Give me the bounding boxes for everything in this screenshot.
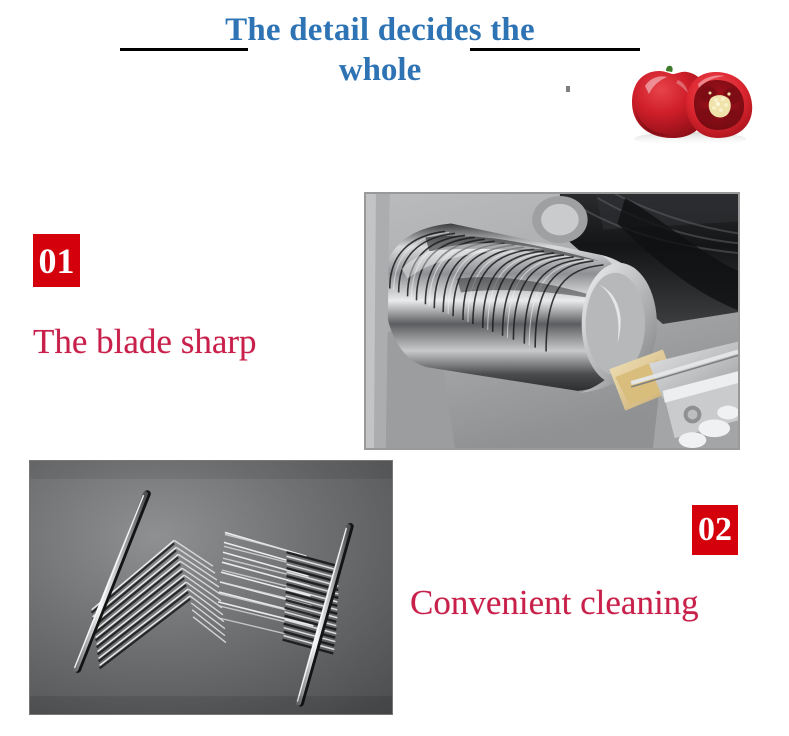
feature-caption-02: Convenient cleaning bbox=[410, 583, 699, 623]
title-underline-left bbox=[120, 48, 248, 51]
comb-scraper-photo bbox=[29, 460, 393, 715]
image-artifact-speck bbox=[566, 86, 570, 92]
feature-caption-01: The blade sharp bbox=[33, 322, 257, 362]
title-line-2: whole bbox=[100, 50, 660, 90]
title-line-1: The detail decides the bbox=[100, 10, 660, 50]
slide-canvas: The detail decides the whole bbox=[0, 0, 789, 736]
feature-number-badge-02: 02 bbox=[692, 505, 738, 555]
feature-number-badge-01: 01 bbox=[33, 234, 80, 287]
blade-roller-photo bbox=[364, 192, 740, 450]
red-bell-peppers-photo bbox=[612, 58, 772, 150]
title-underline-right bbox=[470, 48, 640, 51]
